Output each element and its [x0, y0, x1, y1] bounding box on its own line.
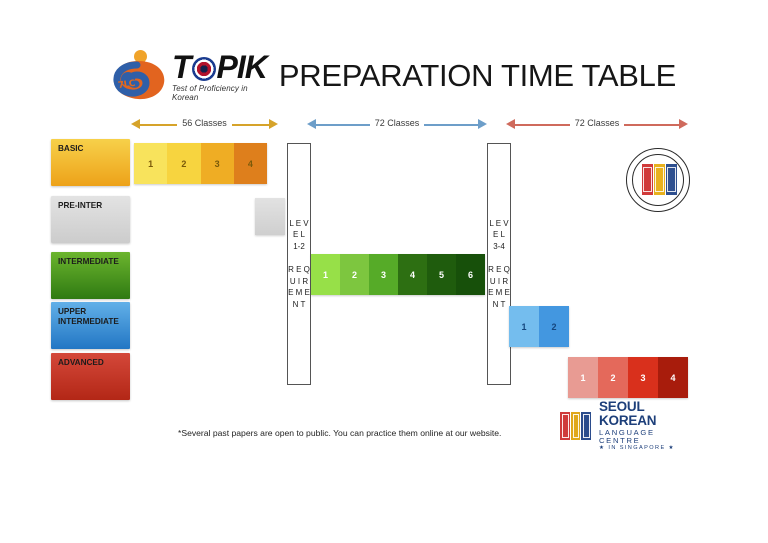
- poster-canvas: 7LC T PIK Test of Proficiency in Korean …: [0, 0, 768, 543]
- poster-header: 7LC T PIK Test of Proficiency in Korean …: [108, 48, 668, 104]
- class-cell[interactable]: 2: [340, 254, 369, 295]
- topik-seal-badge: [626, 148, 690, 212]
- arrow-72-classes-intermediate: 72 Classes: [307, 116, 487, 134]
- sklc-text-block: SEOUL KOREAN LANGUAGE CENTRE ★ IN SINGAP…: [599, 400, 691, 452]
- requirement-level-text: L E V E L: [288, 218, 310, 241]
- level-box-advanced[interactable]: ADVANCED: [51, 353, 130, 400]
- arrow-row: 56 Classes 72 Classes 72 Classes: [0, 116, 768, 136]
- topik-wordmark: T PIK Test of Proficiency in Korean: [172, 51, 267, 102]
- badge-banner-blue-icon: [666, 164, 677, 195]
- logo-swirl-icon: [108, 59, 166, 101]
- level-label: ADVANCED: [58, 358, 104, 368]
- arrow-label: 72 Classes: [570, 118, 625, 128]
- sklc-location: ★ IN SINGAPORE ★: [599, 446, 691, 452]
- class-cell[interactable]: 1: [311, 254, 340, 295]
- arrow-72-classes-advanced: 72 Classes: [506, 116, 688, 134]
- sklc-banner-red-icon: [560, 412, 570, 440]
- class-cell[interactable]: 1: [568, 357, 598, 398]
- class-cell[interactable]: 4: [234, 143, 267, 184]
- level-box-basic[interactable]: BASIC: [51, 139, 130, 186]
- class-cell[interactable]: 1: [134, 143, 167, 184]
- page-title: PREPARATION TIME TABLE: [279, 58, 676, 94]
- level-label: PRE-INTER: [58, 201, 102, 211]
- sklc-name: SEOUL KOREAN: [599, 400, 691, 427]
- class-cell[interactable]: 4: [398, 254, 427, 295]
- requirement-word-text: R E Q U I R E M E N T: [488, 264, 510, 310]
- requirement-level-range: 3-4: [493, 241, 505, 253]
- class-cell[interactable]: 5: [427, 254, 456, 295]
- topik-letters-pik: PIK: [217, 51, 267, 83]
- level-label: UPPERINTERMEDIATE: [58, 307, 119, 327]
- arrow-head-right-icon: [679, 119, 688, 129]
- class-cell[interactable]: 3: [628, 357, 658, 398]
- topik-o-target-icon: [192, 57, 216, 81]
- class-cell[interactable]: 4: [658, 357, 688, 398]
- arrow-head-right-icon: [269, 119, 278, 129]
- advanced-class-strip: 1234: [568, 357, 688, 398]
- class-cell[interactable]: 2: [167, 143, 200, 184]
- basic-class-strip: 1234: [134, 143, 267, 184]
- sklc-banner-blue-icon: [581, 412, 591, 440]
- class-cell[interactable]: 6: [456, 254, 485, 295]
- badge-inner-ring: [632, 154, 684, 206]
- sklc-logo[interactable]: SEOUL KOREAN LANGUAGE CENTRE ★ IN SINGAP…: [559, 408, 691, 444]
- sklc-banner-yellow-icon: [571, 412, 580, 440]
- arrow-56-classes: 56 Classes: [131, 116, 278, 134]
- class-cell[interactable]: 2: [539, 306, 569, 347]
- level-box-upper-intermediate[interactable]: UPPERINTERMEDIATE: [51, 302, 130, 349]
- footnote: *Several past papers are open to public.…: [178, 428, 501, 438]
- arrow-head-right-icon: [478, 119, 487, 129]
- topik-word: T PIK: [172, 51, 267, 83]
- level-box-intermediate[interactable]: INTERMEDIATE: [51, 252, 130, 299]
- topik-logo: 7LC: [108, 50, 170, 102]
- badge-banner-yellow-icon: [654, 164, 665, 195]
- class-cell[interactable]: 3: [201, 143, 234, 184]
- level-label: BASIC: [58, 144, 83, 154]
- requirement-column-level-3-4: L E V E L 3-4 R E Q U I R E M E N T: [487, 143, 511, 385]
- requirement-word-text: R E Q U I R E M E N T: [288, 264, 310, 310]
- topik-letter-t: T: [172, 51, 191, 83]
- requirement-level-range: 1-2: [293, 241, 305, 253]
- level-label: INTERMEDIATE: [58, 257, 119, 267]
- level-box-pre-inter[interactable]: PRE-INTER: [51, 196, 130, 243]
- class-cell[interactable]: 1: [509, 306, 539, 347]
- badge-banner-red-icon: [642, 164, 653, 195]
- upper-intermediate-class-strip: 12: [509, 306, 569, 347]
- class-cell[interactable]: 2: [598, 357, 628, 398]
- class-cell[interactable]: 3: [369, 254, 398, 295]
- pre-inter-connector: [255, 198, 285, 235]
- arrow-label: 72 Classes: [370, 118, 425, 128]
- requirement-level-text: L E V E L: [488, 218, 510, 241]
- requirement-column-level-1-2: L E V E L 1-2 R E Q U I R E M E N T: [287, 143, 311, 385]
- sklc-mark-icon: [559, 410, 593, 442]
- arrow-label: 56 Classes: [177, 118, 232, 128]
- intermediate-class-strip: 123456: [311, 254, 485, 295]
- topik-tagline: Test of Proficiency in Korean: [172, 84, 267, 102]
- sklc-subtitle: LANGUAGE CENTRE: [599, 429, 691, 444]
